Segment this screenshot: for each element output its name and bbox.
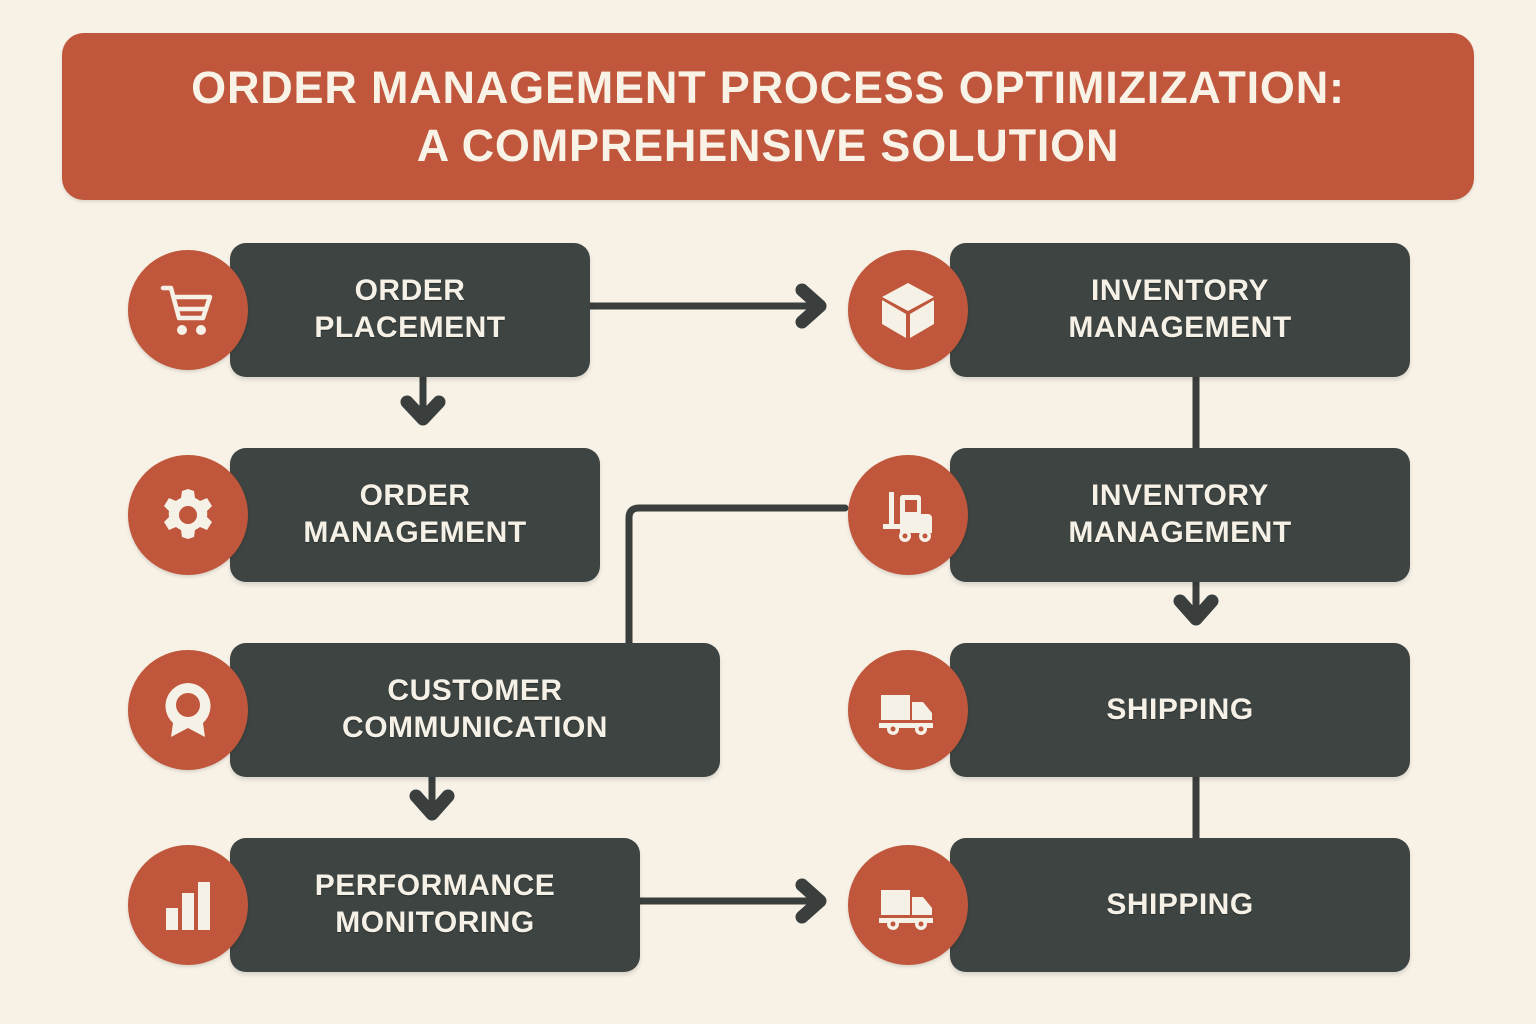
label-line-1: CUSTOMER bbox=[387, 674, 562, 707]
node-shipping-2[interactable]: SHIPPING bbox=[848, 838, 1410, 972]
bar-chart-icon bbox=[128, 845, 248, 965]
node-shipping-1-box[interactable]: SHIPPING bbox=[950, 643, 1410, 777]
connector-inventory-2-to-shipping-1 bbox=[1180, 582, 1212, 619]
node-inventory-management-1[interactable]: INVENTORY MANAGEMENT bbox=[848, 243, 1410, 377]
node-customer-communication-box[interactable]: CUSTOMER COMMUNICATION bbox=[230, 643, 720, 777]
label-line-2: MANAGEMENT bbox=[303, 516, 526, 549]
connector-customer-communication-to-inventory-2 bbox=[629, 508, 845, 643]
label-line-2: COMMUNICATION bbox=[342, 711, 608, 744]
box-3d-icon bbox=[848, 250, 968, 370]
node-inventory-management-1-label: INVENTORY MANAGEMENT bbox=[1046, 273, 1313, 346]
page-title-line-1: ORDER MANAGEMENT PROCESS OPTIMIZIZATION: bbox=[191, 62, 1345, 113]
node-order-placement-box[interactable]: ORDER PLACEMENT bbox=[230, 243, 590, 377]
chat-bubble-icon bbox=[128, 650, 248, 770]
connector-performance-monitoring-to-shipping-2 bbox=[638, 885, 820, 917]
label-line-1: SHIPPING bbox=[1106, 693, 1253, 726]
label-line-2: MONITORING bbox=[335, 906, 534, 939]
node-order-management-label: ORDER MANAGEMENT bbox=[281, 478, 548, 551]
node-performance-monitoring-label: PERFORMANCE MONITORING bbox=[293, 868, 578, 941]
label-line-1: PERFORMANCE bbox=[315, 869, 556, 902]
node-inventory-management-2[interactable]: INVENTORY MANAGEMENT bbox=[848, 448, 1410, 582]
label-line-1: INVENTORY bbox=[1091, 479, 1269, 512]
connector-order-placement-to-order-management bbox=[407, 377, 439, 419]
node-customer-communication[interactable]: CUSTOMER COMMUNICATION bbox=[128, 643, 720, 777]
node-order-placement-label: ORDER PLACEMENT bbox=[292, 273, 527, 346]
label-line-2: PLACEMENT bbox=[314, 311, 505, 344]
label-line-1: SHIPPING bbox=[1106, 888, 1253, 921]
shopping-cart-icon bbox=[128, 250, 248, 370]
delivery-truck-icon bbox=[848, 650, 968, 770]
page-title-banner: ORDER MANAGEMENT PROCESS OPTIMIZIZATION:… bbox=[62, 33, 1474, 200]
page-title: ORDER MANAGEMENT PROCESS OPTIMIZIZATION:… bbox=[151, 59, 1385, 174]
label-line-1: ORDER bbox=[360, 479, 471, 512]
label-line-1: INVENTORY bbox=[1091, 274, 1269, 307]
delivery-truck-icon bbox=[848, 845, 968, 965]
node-shipping-2-label: SHIPPING bbox=[1084, 887, 1275, 924]
node-order-placement[interactable]: ORDER PLACEMENT bbox=[128, 243, 590, 377]
node-customer-communication-label: CUSTOMER COMMUNICATION bbox=[320, 673, 630, 746]
label-line-1: ORDER bbox=[355, 274, 466, 307]
label-line-2: MANAGEMENT bbox=[1068, 311, 1291, 344]
gear-icon bbox=[128, 455, 248, 575]
label-line-2: MANAGEMENT bbox=[1068, 516, 1291, 549]
node-shipping-1[interactable]: SHIPPING bbox=[848, 643, 1410, 777]
node-inventory-management-1-box[interactable]: INVENTORY MANAGEMENT bbox=[950, 243, 1410, 377]
forklift-icon bbox=[848, 455, 968, 575]
diagram-canvas: ORDER MANAGEMENT PROCESS OPTIMIZIZATION:… bbox=[0, 0, 1536, 1024]
page-title-line-2: A COMPREHENSIVE SOLUTION bbox=[417, 120, 1120, 171]
node-performance-monitoring-box[interactable]: PERFORMANCE MONITORING bbox=[230, 838, 640, 972]
node-order-management[interactable]: ORDER MANAGEMENT bbox=[128, 448, 600, 582]
node-shipping-1-label: SHIPPING bbox=[1084, 692, 1275, 729]
node-shipping-2-box[interactable]: SHIPPING bbox=[950, 838, 1410, 972]
node-order-management-box[interactable]: ORDER MANAGEMENT bbox=[230, 448, 600, 582]
node-performance-monitoring[interactable]: PERFORMANCE MONITORING bbox=[128, 838, 640, 972]
node-inventory-management-2-label: INVENTORY MANAGEMENT bbox=[1046, 478, 1313, 551]
node-inventory-management-2-box[interactable]: INVENTORY MANAGEMENT bbox=[950, 448, 1410, 582]
connector-customer-communication-to-performance-monitoring bbox=[416, 777, 448, 814]
